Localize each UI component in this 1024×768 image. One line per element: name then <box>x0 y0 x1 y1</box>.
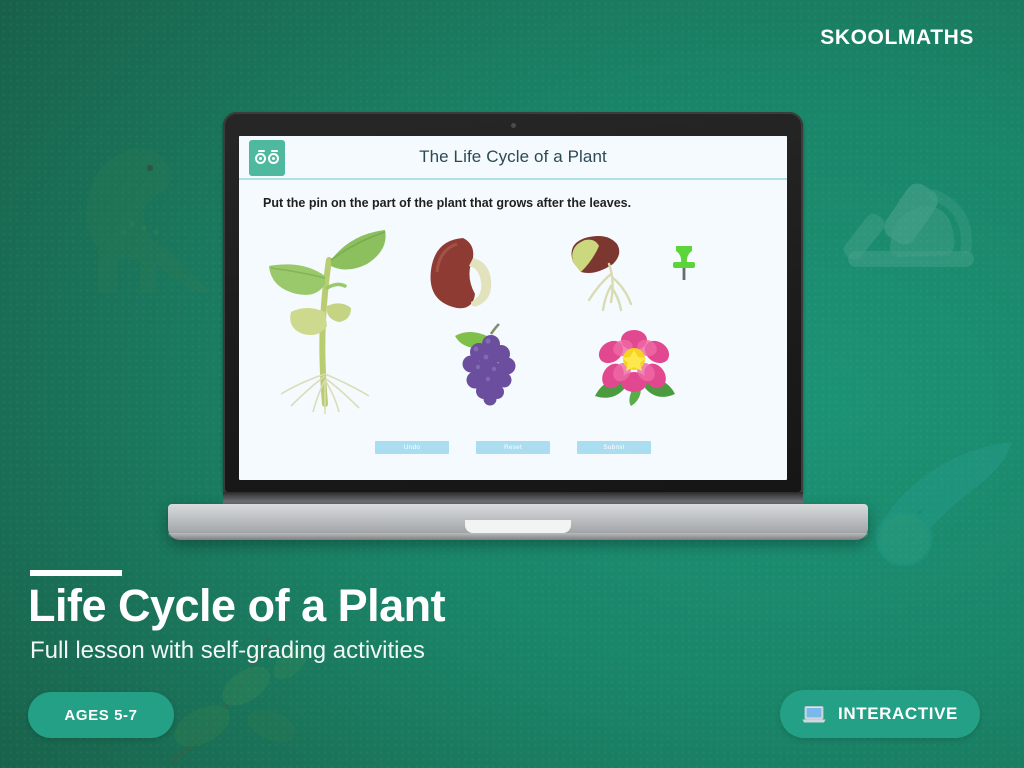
germinating-seed-with-roots-image[interactable] <box>559 230 649 314</box>
undo-button[interactable]: Undo <box>375 441 449 454</box>
page-title: Life Cycle of a Plant <box>28 580 445 632</box>
owl-eye-right <box>268 153 279 164</box>
interactive-badge: INTERACTIVE <box>780 690 980 738</box>
seedling-with-roots-image[interactable] <box>247 216 407 416</box>
grapes-fruit-image[interactable] <box>447 322 529 406</box>
laptop-icon <box>802 706 826 723</box>
page-subtitle: Full lesson with self-grading activities <box>30 637 425 665</box>
bean-seed-sprouting-image[interactable] <box>421 232 511 314</box>
lesson-title: The Life Cycle of a Plant <box>239 147 787 167</box>
laptop-base <box>168 504 868 540</box>
laptop-latch-notch <box>465 520 571 533</box>
ages-badge: AGES 5-7 <box>28 692 174 738</box>
laptop-screen: The Life Cycle of a Plant Put the pin on… <box>239 136 787 480</box>
owl-eyes-icon <box>249 140 285 176</box>
owl-eye-left <box>255 153 266 164</box>
lesson-header: The Life Cycle of a Plant <box>239 136 787 180</box>
webcam-icon <box>511 123 516 128</box>
submit-button[interactable]: Submit <box>577 441 651 454</box>
interactive-badge-label: INTERACTIVE <box>838 704 958 724</box>
activity-buttons: Undo Reset Submit <box>239 441 787 454</box>
pink-flower-image[interactable] <box>591 326 677 406</box>
laptop-lid: The Life Cycle of a Plant Put the pin on… <box>223 112 803 494</box>
activity-stage <box>239 210 787 458</box>
green-push-pin-icon[interactable] <box>667 242 701 282</box>
brand-logo: SKOOLMATHS <box>820 26 974 50</box>
laptop-base-edge <box>168 533 868 540</box>
laptop-mockup: The Life Cycle of a Plant Put the pin on… <box>168 112 868 552</box>
title-rule <box>30 570 122 576</box>
lesson-instruction: Put the pin on the part of the plant tha… <box>239 180 787 210</box>
reset-button[interactable]: Reset <box>476 441 550 454</box>
ages-badge-label: AGES 5-7 <box>64 707 137 724</box>
